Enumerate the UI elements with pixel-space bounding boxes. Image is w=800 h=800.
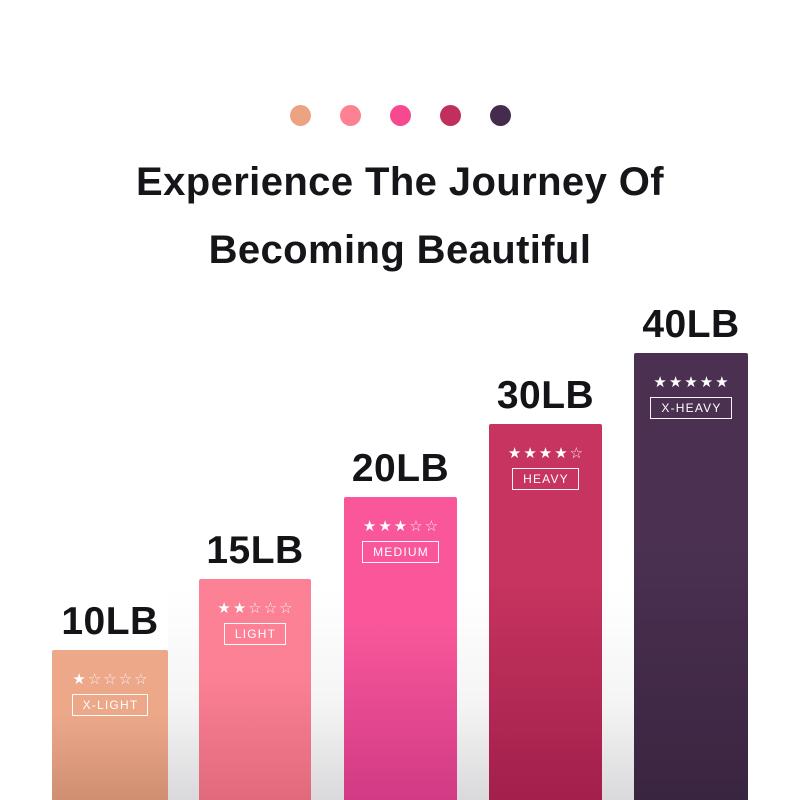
star-filled-icon: ★ (554, 446, 567, 461)
intensity-label: MEDIUM (362, 541, 439, 563)
star-filled-icon: ★ (539, 446, 552, 461)
star-filled-icon: ★ (363, 519, 376, 534)
bar-body[interactable]: ★★★★★X-HEAVY (634, 353, 748, 800)
star-empty-icon: ☆ (134, 672, 147, 687)
intensity-label: X-HEAVY (650, 397, 731, 419)
bar-gap-shadow (168, 590, 199, 800)
bar-badge: ★★★☆☆MEDIUM (344, 519, 457, 563)
bar-value-label: 15LB (206, 529, 303, 573)
star-filled-icon: ★ (653, 375, 666, 390)
bar-badge: ★☆☆☆☆X-LIGHT (52, 672, 168, 716)
bar-body[interactable]: ★★☆☆☆LIGHT (199, 579, 311, 800)
bar-value-label: 40LB (642, 303, 739, 347)
intensity-label: HEAVY (512, 468, 579, 490)
star-empty-icon: ☆ (264, 601, 277, 616)
bar-badge: ★★★★★X-HEAVY (634, 375, 748, 419)
star-empty-icon: ☆ (88, 672, 101, 687)
bar-column[interactable]: 30LB★★★★☆HEAVY (489, 362, 602, 800)
star-filled-icon: ★ (217, 601, 230, 616)
star-rating: ★★★☆☆ (363, 519, 438, 534)
bar-gap-shadow (457, 590, 489, 800)
star-filled-icon: ★ (378, 519, 391, 534)
star-filled-icon: ★ (523, 446, 536, 461)
star-filled-icon: ★ (233, 601, 246, 616)
bar-gap-shadow (311, 590, 344, 800)
star-empty-icon: ☆ (570, 446, 583, 461)
bar-badge: ★★☆☆☆LIGHT (199, 601, 311, 645)
star-rating: ★★☆☆☆ (217, 601, 292, 616)
star-filled-icon: ★ (394, 519, 407, 534)
bar-gap-shadow (602, 590, 634, 800)
star-filled-icon: ★ (669, 375, 682, 390)
star-empty-icon: ☆ (279, 601, 292, 616)
star-filled-icon: ★ (72, 672, 85, 687)
intensity-label: LIGHT (224, 623, 286, 645)
star-rating: ★★★★★ (653, 375, 728, 390)
bar-badge: ★★★★☆HEAVY (489, 446, 602, 490)
bar-body[interactable]: ★★★☆☆MEDIUM (344, 497, 457, 800)
bar-body[interactable]: ★☆☆☆☆X-LIGHT (52, 650, 168, 800)
star-empty-icon: ☆ (425, 519, 438, 534)
star-empty-icon: ☆ (119, 672, 132, 687)
star-filled-icon: ★ (508, 446, 521, 461)
bar-body[interactable]: ★★★★☆HEAVY (489, 424, 602, 800)
star-filled-icon: ★ (715, 375, 728, 390)
star-filled-icon: ★ (700, 375, 713, 390)
bar-column[interactable]: 10LB★☆☆☆☆X-LIGHT (52, 588, 168, 800)
star-rating: ★☆☆☆☆ (72, 672, 147, 687)
bar-value-label: 10LB (61, 600, 158, 644)
bar-value-label: 30LB (497, 374, 594, 418)
bar-value-label: 20LB (352, 447, 449, 491)
intensity-label: X-LIGHT (72, 694, 149, 716)
star-empty-icon: ☆ (103, 672, 116, 687)
bar-column[interactable]: 20LB★★★☆☆MEDIUM (344, 435, 457, 800)
star-empty-icon: ☆ (248, 601, 261, 616)
star-rating: ★★★★☆ (508, 446, 583, 461)
infographic-root: Experience The Journey Of Becoming Beaut… (0, 0, 800, 800)
bar-column[interactable]: 40LB★★★★★X-HEAVY (634, 291, 748, 800)
bar-column[interactable]: 15LB★★☆☆☆LIGHT (199, 517, 311, 800)
star-filled-icon: ★ (684, 375, 697, 390)
resistance-bar-chart: 10LB★☆☆☆☆X-LIGHT15LB★★☆☆☆LIGHT20LB★★★☆☆M… (0, 0, 800, 800)
star-empty-icon: ☆ (409, 519, 422, 534)
